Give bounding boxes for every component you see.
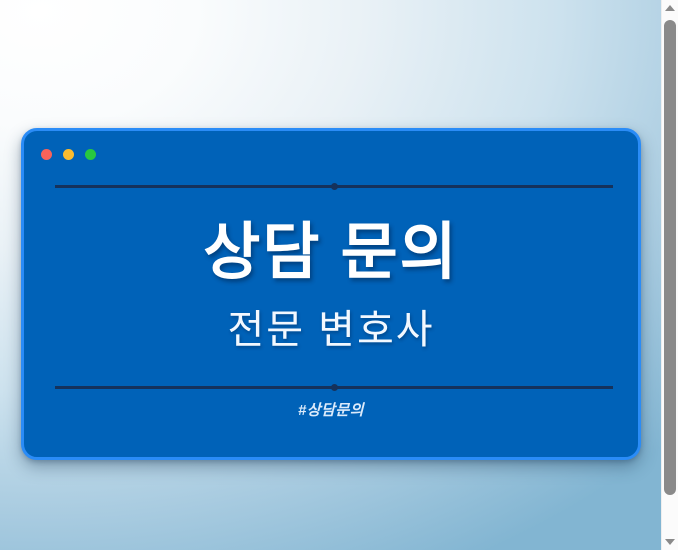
vertical-scrollbar[interactable] (661, 0, 678, 550)
triangle-down-icon (665, 539, 675, 545)
maximize-button[interactable] (85, 149, 96, 160)
slide-content: 상담 문의 전문 변호사 (24, 185, 638, 386)
slide-title: 상담 문의 (203, 222, 458, 284)
divider-bottom (55, 386, 613, 389)
window-controls (41, 149, 96, 160)
triangle-up-icon (665, 5, 675, 11)
scroll-up-arrow-icon[interactable] (662, 0, 678, 16)
slide-subtitle: 전문 변호사 (227, 310, 434, 350)
divider-node-icon (331, 384, 338, 391)
slide-hashtag: #상담문의 (24, 399, 638, 420)
scrollbar-thumb[interactable] (664, 20, 676, 495)
minimize-button[interactable] (63, 149, 74, 160)
slide-card: 상담 문의 전문 변호사 #상담문의 (21, 128, 641, 460)
viewport: 상담 문의 전문 변호사 #상담문의 (0, 0, 678, 550)
close-button[interactable] (41, 149, 52, 160)
scroll-down-arrow-icon[interactable] (662, 534, 678, 550)
